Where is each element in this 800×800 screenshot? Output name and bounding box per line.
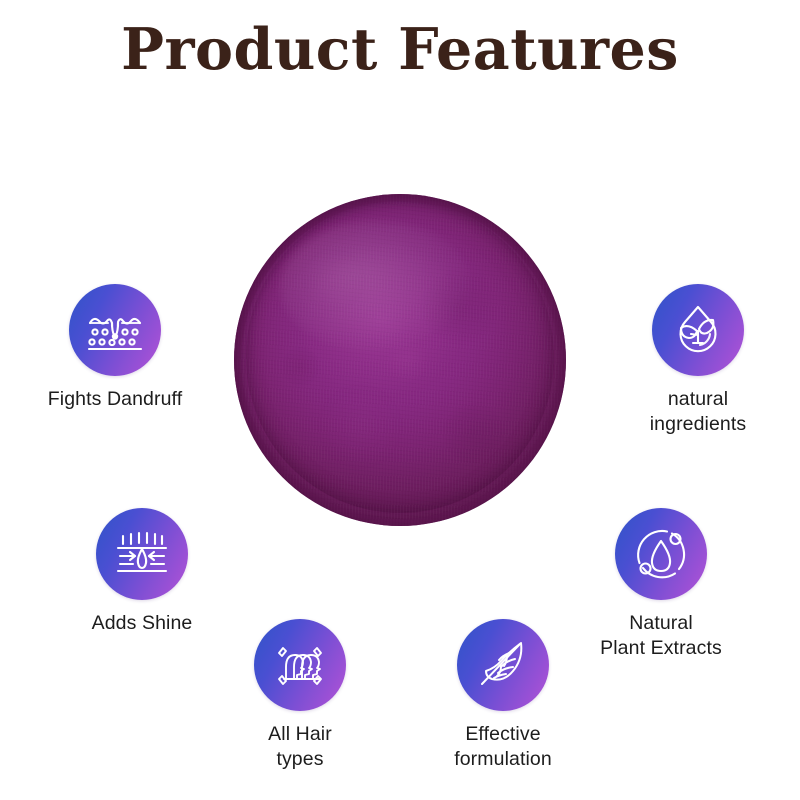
three-heads-icon	[254, 619, 346, 711]
feature-item-all-hair-types[interactable]: All Hair types	[200, 619, 400, 772]
page-title: Product Features	[0, 16, 800, 83]
droplet-leaves-icon	[652, 284, 744, 376]
product-puck-rim	[234, 194, 566, 526]
product-image	[234, 194, 566, 526]
feature-item-adds-shine[interactable]: Adds Shine	[42, 508, 242, 636]
feature-label-effective-formulation: Effective formulation	[403, 722, 603, 772]
feature-label-natural-ingredients: natural ingredients	[598, 387, 798, 437]
feature-label-all-hair-types: All Hair types	[200, 722, 400, 772]
scalp-dandruff-icon	[69, 284, 161, 376]
feature-item-fights-dandruff[interactable]: Fights Dandruff	[15, 284, 215, 412]
feature-item-effective-formulation[interactable]: Effective formulation	[403, 619, 603, 772]
feature-label-fights-dandruff: Fights Dandruff	[15, 387, 215, 412]
feature-item-natural-ingredients[interactable]: natural ingredients	[598, 284, 798, 437]
droplet-orbit-icon	[615, 508, 707, 600]
hair-shine-icon	[96, 508, 188, 600]
feather-leaf-icon	[457, 619, 549, 711]
